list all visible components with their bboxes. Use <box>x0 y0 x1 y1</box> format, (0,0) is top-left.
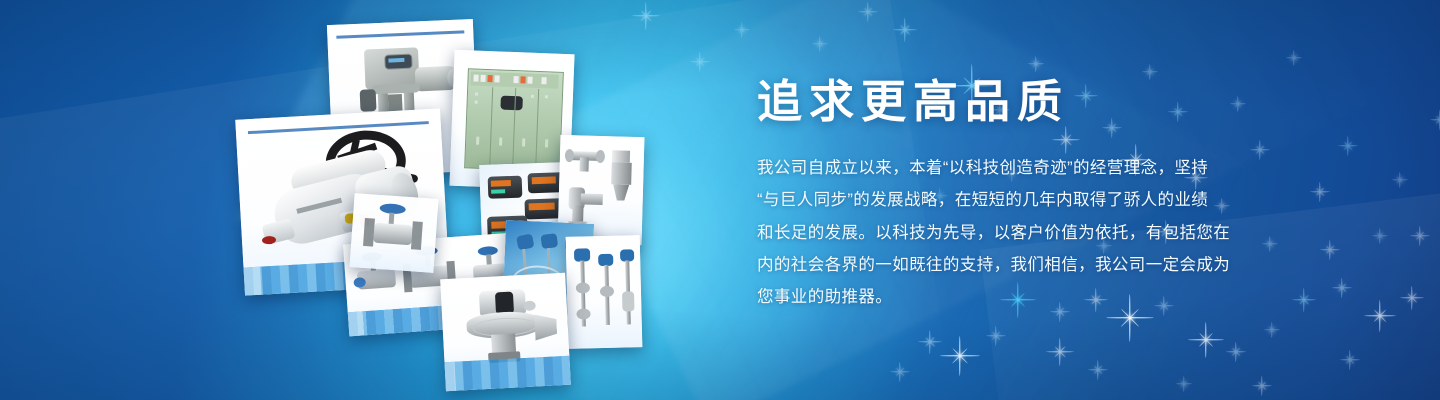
card-mosaic-strip <box>444 356 570 392</box>
paragraph-line-3: 和长足的发展。以科技为先导，以客户价值为依托，有包括您在 <box>757 217 1297 249</box>
hero-banner: 追求更高品质 我公司自成立以来，本着“以科技创造奇迹”的经营理念，坚持 “与巨人… <box>0 0 1440 400</box>
banner-copy: 追求更高品质 我公司自成立以来，本着“以科技创造奇迹”的经营理念，坚持 “与巨人… <box>757 78 1297 314</box>
card-accent-bar <box>336 30 465 38</box>
product-photo <box>350 193 439 273</box>
paragraph-line-5: 您事业的助推器。 <box>757 281 1297 313</box>
paragraph-line-2: “与巨人同步”的发展战略，在短短的几年内取得了骄人的业绩 <box>757 184 1297 216</box>
collage-card-pressure-switch-metal <box>440 273 571 391</box>
product-photo <box>566 235 643 349</box>
paragraph-line-1: 我公司自成立以来，本着“以科技创造奇迹”的经营理念，坚持 <box>757 152 1297 184</box>
banner-paragraph: 我公司自成立以来，本着“以科技创造奇迹”的经营理念，坚持 “与巨人同步”的发展战… <box>757 152 1297 314</box>
collage-card-magnetic-level-gauges <box>566 235 643 349</box>
collage-card-flange-ball-valve <box>350 193 439 273</box>
banner-headline: 追求更高品质 <box>757 78 1297 126</box>
product-collage <box>0 0 700 400</box>
card-accent-bar <box>248 121 428 134</box>
paragraph-line-4: 内的社会各界的一如既往的支持，我们相信，我公司一定会成为 <box>757 249 1297 281</box>
